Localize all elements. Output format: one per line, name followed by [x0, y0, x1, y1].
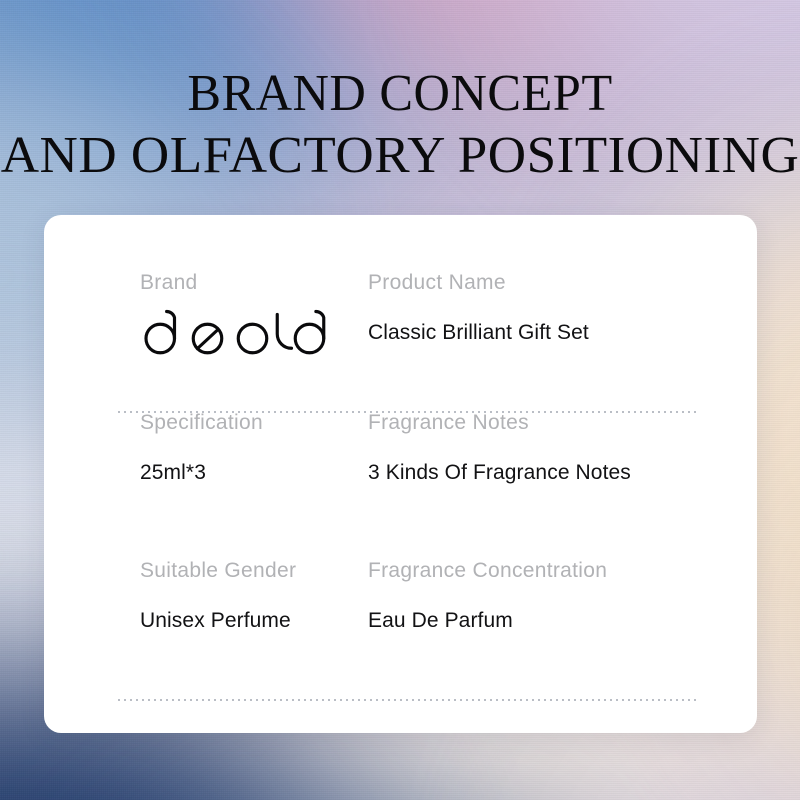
spec-label-fragrance-notes: Fragrance Notes [368, 411, 628, 435]
spec-label-brand: Brand [140, 271, 350, 295]
spec-row: Suitable Gender Unisex Perfume Fragrance… [72, 559, 749, 679]
spec-label-fragrance-concentration: Fragrance Concentration [368, 559, 628, 583]
spec-value-suitable-gender: Unisex Perfume [140, 609, 350, 633]
spec-card: Brand [44, 215, 757, 733]
spec-cell-fragrance-notes: Fragrance Notes 3 Kinds Of Fragrance Not… [350, 411, 628, 559]
spec-divider [116, 699, 697, 701]
page-title: BRAND CONCEPT AND OLFACTORY POSITIONING [0, 68, 800, 182]
background-blob-peach-right [758, 467, 800, 781]
spec-cell-suitable-gender: Suitable Gender Unisex Perfume [72, 559, 350, 679]
spec-label-specification: Specification [140, 411, 350, 435]
spec-label-product-name: Product Name [368, 271, 628, 295]
spec-row: Brand [72, 271, 749, 411]
spec-cell-fragrance-concentration: Fragrance Concentration Eau De Parfum [350, 559, 628, 679]
spec-label-suitable-gender: Suitable Gender [140, 559, 350, 583]
spec-table: Brand [72, 271, 749, 679]
spec-row: Specification 25ml*3 Fragrance Notes 3 K… [72, 411, 749, 559]
deold-brand-logo [140, 307, 350, 355]
spec-cell-specification: Specification 25ml*3 [72, 411, 350, 559]
spec-value-product-name: Classic Brilliant Gift Set [368, 321, 628, 345]
spec-cell-product-name: Product Name Classic Brilliant Gift Set [350, 271, 628, 411]
spec-value-specification: 25ml*3 [140, 461, 350, 485]
poster-page: BRAND CONCEPT AND OLFACTORY POSITIONING … [0, 0, 800, 800]
page-title-line-2: AND OLFACTORY POSITIONING [0, 130, 800, 182]
spec-value-fragrance-concentration: Eau De Parfum [368, 609, 628, 633]
spec-cell-brand: Brand [72, 271, 350, 411]
spec-value-fragrance-notes: 3 Kinds Of Fragrance Notes [368, 461, 628, 485]
page-title-line-1: BRAND CONCEPT [12, 68, 788, 120]
